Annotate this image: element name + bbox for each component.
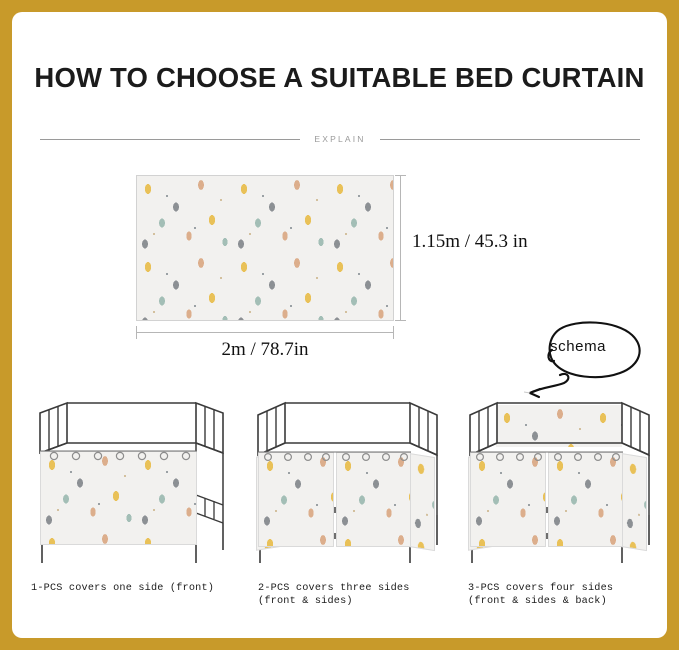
divider-rule-left <box>40 139 300 140</box>
height-dimension-tick-top <box>395 175 406 176</box>
caption-3pcs: 3-PCS covers four sides (front & sides &… <box>468 582 667 608</box>
height-label: 1.15m / 45.3 in <box>412 231 528 253</box>
diagram-3pcs <box>462 395 667 565</box>
curtain-panel-right-3 <box>621 453 647 551</box>
height-dimension-line <box>400 175 401 321</box>
caption-1pcs: 1-PCS covers one side (front) <box>31 582 246 595</box>
curtain-panel-front-right-2 <box>336 452 411 547</box>
width-label: 2m / 78.7in <box>136 339 394 361</box>
schema-label: schema <box>550 338 606 355</box>
caption-2pcs: 2-PCS covers three sides (front & sides) <box>258 582 473 608</box>
curtain-panel-front-left-3 <box>470 452 546 547</box>
width-dimension-line <box>136 332 394 333</box>
curtain-panel-front-left-2 <box>258 452 334 547</box>
section-divider: EXPLAIN <box>40 132 640 146</box>
divider-label: EXPLAIN <box>314 134 365 144</box>
diagram-1pcs <box>30 395 245 565</box>
divider-rule-right <box>380 139 640 140</box>
poster-border: HOW TO CHOOSE A SUITABLE BED CURTAIN EXP… <box>0 0 679 650</box>
poster-page: HOW TO CHOOSE A SUITABLE BED CURTAIN EXP… <box>12 12 667 638</box>
curtain-panel-front-right-3 <box>548 452 623 547</box>
fabric-swatch-wrap <box>136 175 394 321</box>
diagram-2pcs <box>250 395 465 565</box>
fabric-swatch <box>136 175 394 321</box>
width-dimension-tick-left <box>136 326 137 339</box>
width-dimension-tick-right <box>393 326 394 339</box>
height-dimension-tick-bottom <box>395 320 406 321</box>
callout-leader-line <box>524 387 530 393</box>
curtain-panel-right-2 <box>409 453 435 551</box>
schema-callout: schema <box>524 317 654 399</box>
page-title: HOW TO CHOOSE A SUITABLE BED CURTAIN <box>12 62 667 94</box>
curtain-panel-front-1 <box>40 451 197 545</box>
